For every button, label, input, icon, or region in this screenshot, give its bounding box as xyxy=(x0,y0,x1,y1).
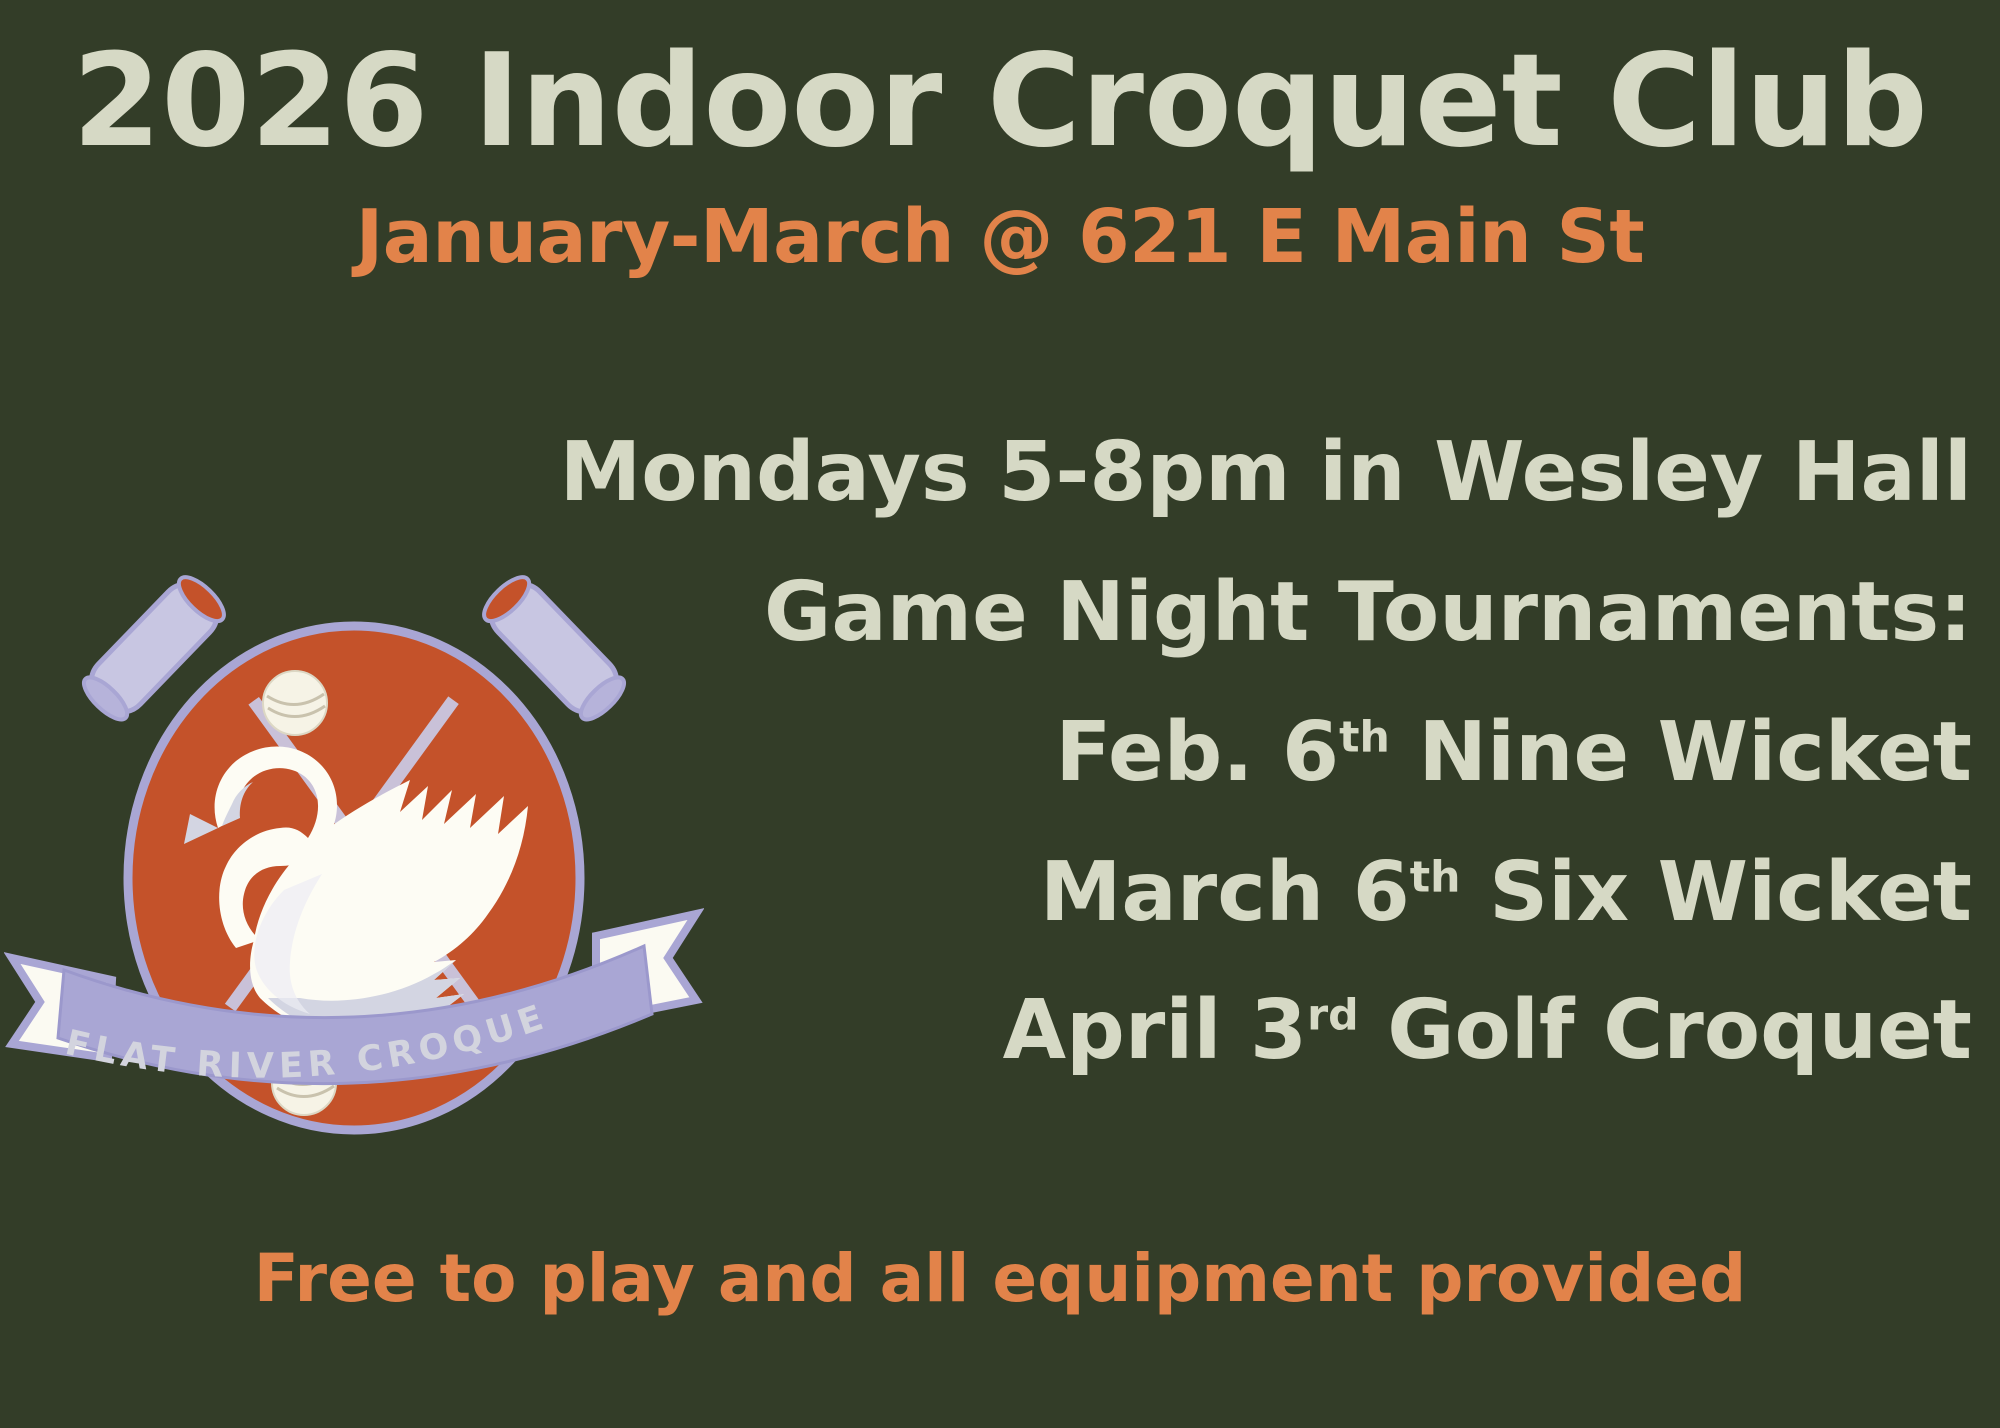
flat-river-croquet-society-logo: FLAT RIVER CROQUET SOCIETY xyxy=(4,528,704,1148)
event-format-march: Six Wicket xyxy=(1461,845,1972,940)
event-date-feb: Feb. 6 xyxy=(1055,705,1339,800)
croquet-ball-top-icon xyxy=(263,671,327,735)
event-row-march: March 6th Six Wicket xyxy=(1040,852,1972,934)
poster-canvas: 2026 Indoor Croquet Club January-March @… xyxy=(0,0,2000,1428)
event-format-feb: Nine Wicket xyxy=(1390,705,1972,800)
schedule-line: Mondays 5-8pm in Wesley Hall xyxy=(560,432,1972,514)
event-ordinal-april: rd xyxy=(1307,991,1359,1041)
event-format-april: Golf Croquet xyxy=(1359,983,1972,1078)
tournaments-heading: Game Night Tournaments: xyxy=(764,572,1972,654)
event-row-feb: Feb. 6th Nine Wicket xyxy=(1055,712,1972,794)
event-date-april: April 3 xyxy=(1003,983,1307,1078)
poster-subtitle: January-March @ 621 E Main St xyxy=(0,200,2000,274)
event-row-april: April 3rd Golf Croquet xyxy=(1003,990,1972,1072)
event-ordinal-march: th xyxy=(1410,853,1461,903)
event-date-march: March 6 xyxy=(1040,845,1410,940)
poster-footer-note: Free to play and all equipment provided xyxy=(0,1246,2000,1312)
event-ordinal-feb: th xyxy=(1339,713,1390,763)
page-title: 2026 Indoor Croquet Club xyxy=(0,38,2000,166)
